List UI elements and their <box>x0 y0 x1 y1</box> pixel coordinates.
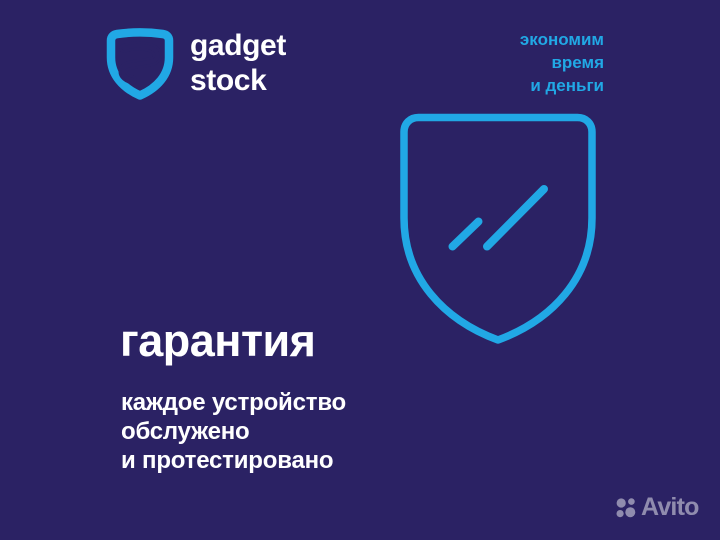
body-line-1: каждое устройство <box>121 388 451 417</box>
body-copy: каждое устройство обслужено и протестиро… <box>121 388 451 475</box>
avito-wordmark: Avito <box>641 495 699 520</box>
tagline-line-2: время <box>520 51 604 74</box>
brand-word-gadget: gadget <box>190 28 286 63</box>
tagline-line-3: и деньги <box>520 74 604 97</box>
shield-monogram-icon <box>104 26 176 100</box>
promo-banner: gadget stock экономим время и деньги гар… <box>0 0 720 540</box>
avito-watermark: Avito <box>616 495 699 520</box>
body-line-3: и протестировано <box>121 446 451 475</box>
tagline-line-1: экономим <box>520 28 604 51</box>
brand-wordmark: gadget stock <box>190 28 286 98</box>
page-title: гарантия <box>120 315 315 367</box>
brand-word-stock: stock <box>190 63 286 98</box>
brand-logo: gadget stock <box>104 26 286 100</box>
shield-check-icon <box>392 106 604 350</box>
body-line-2: обслужено <box>121 417 451 446</box>
avito-dots-icon <box>616 497 637 518</box>
tagline-block: экономим время и деньги <box>520 28 604 97</box>
